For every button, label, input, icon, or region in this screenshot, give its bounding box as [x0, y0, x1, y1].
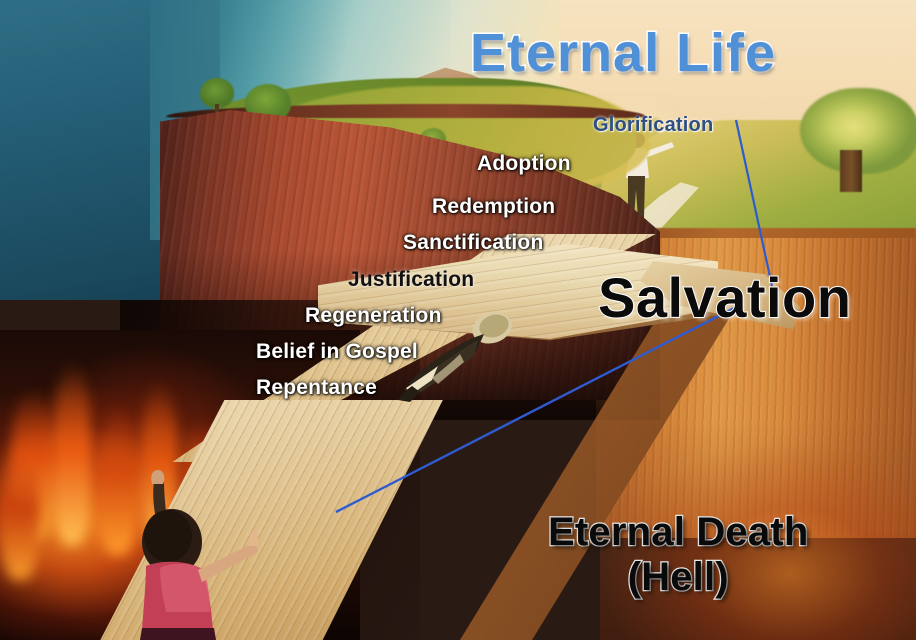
step-label-belief-in-gospel: Belief in Gospel	[256, 340, 418, 364]
step-label-justification: Justification	[348, 268, 474, 292]
page-title-eternal-death: Eternal Death (Hell)	[548, 510, 808, 600]
step-label-sanctification: Sanctification	[403, 231, 544, 255]
page-title-eternal-life: Eternal Life	[470, 22, 776, 84]
label-glorification: Glorification	[593, 114, 713, 137]
kneeling-figure-reaching	[108, 470, 258, 640]
step-label-adoption: Adoption	[477, 152, 571, 176]
page-title-salvation: Salvation	[598, 265, 851, 330]
salvation-diagram-image: Eternal Life Glorification Salvation Ete…	[0, 0, 916, 640]
step-label-regeneration: Regeneration	[305, 304, 442, 328]
tree-trunk	[840, 150, 862, 192]
step-label-repentance: Repentance	[256, 376, 377, 400]
step-label-redemption: Redemption	[432, 195, 555, 219]
